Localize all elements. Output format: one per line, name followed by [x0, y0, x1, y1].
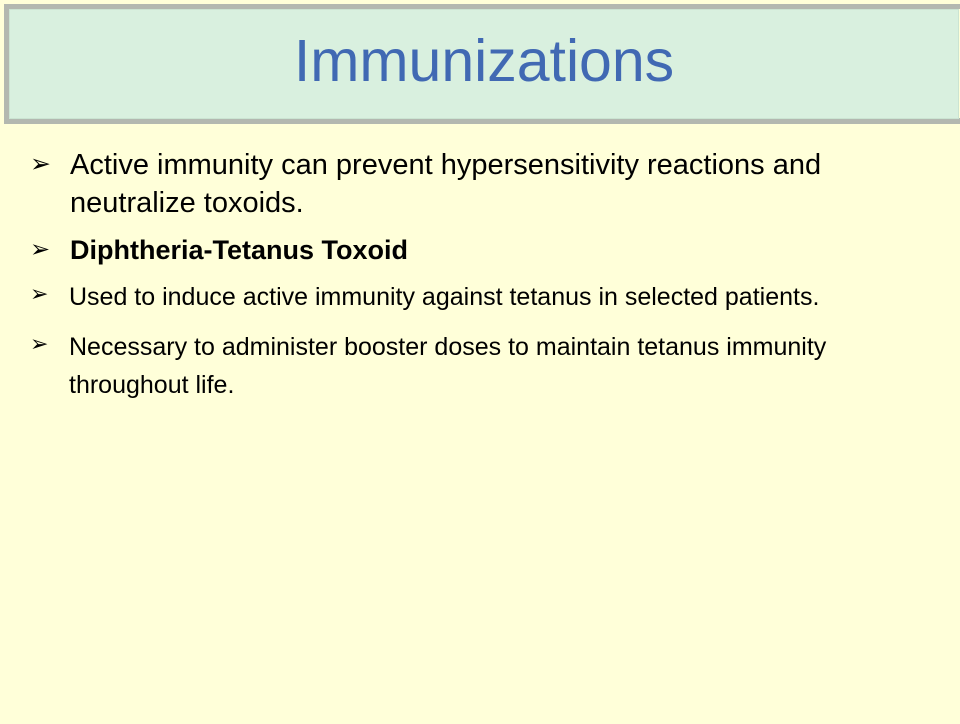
- title-band: Immunizations: [9, 9, 959, 119]
- slide: Immunizations ➢ Active immunity can prev…: [0, 0, 960, 720]
- list-item-text: Active immunity can prevent hypersensiti…: [70, 146, 860, 223]
- list-item-text: Necessary to administer booster doses to…: [69, 328, 909, 404]
- list-item-text: Diphtheria-Tetanus Toxoid: [70, 233, 860, 269]
- list-item: ➢ Necessary to administer booster doses …: [30, 328, 936, 404]
- bullet-list: ➢ Active immunity can prevent hypersensi…: [30, 146, 936, 404]
- arrowhead-bullet-icon: ➢: [30, 278, 69, 309]
- slide-body: ➢ Active immunity can prevent hypersensi…: [4, 124, 960, 724]
- list-item: ➢ Diphtheria-Tetanus Toxoid: [30, 233, 936, 269]
- arrowhead-bullet-icon: ➢: [30, 328, 69, 359]
- list-item: ➢ Used to induce active immunity against…: [30, 278, 936, 316]
- arrowhead-bullet-icon: ➢: [30, 233, 70, 266]
- list-item-text: Used to induce active immunity against t…: [69, 278, 909, 316]
- page-title: Immunizations: [294, 32, 674, 97]
- arrowhead-bullet-icon: ➢: [30, 146, 70, 180]
- list-item: ➢ Active immunity can prevent hypersensi…: [30, 146, 936, 223]
